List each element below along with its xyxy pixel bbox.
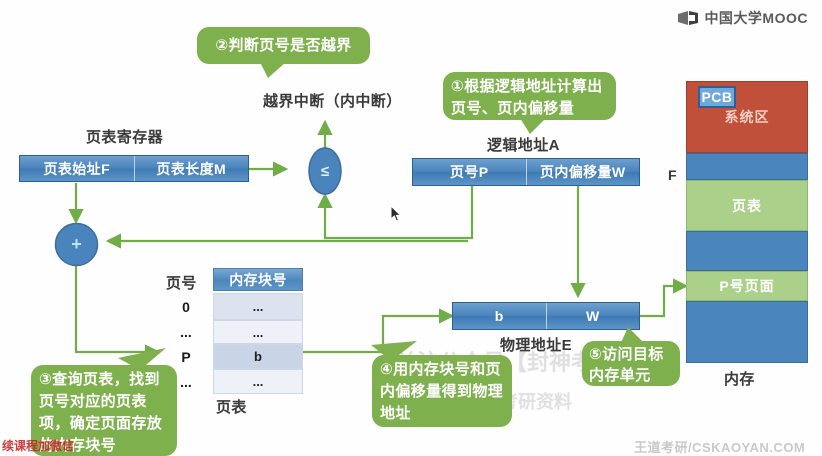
adder-node-symbol: + <box>54 222 99 267</box>
logo-text: 中国大学MOOC <box>704 8 808 28</box>
watermark-bottom-left: 续课程加微信 <box>2 437 74 454</box>
pcb-box: PCB <box>698 86 736 108</box>
memory-segment-page-table: 页表 <box>686 180 808 231</box>
page-table-row: ... <box>213 293 303 320</box>
memory-segment-blue-3 <box>686 301 808 363</box>
memory-segment-system-label: 系统区 <box>725 107 770 127</box>
f-marker-label: F <box>668 167 677 183</box>
interrupt-label: 越界中断（内中断） <box>263 90 402 111</box>
watermark-footer: 王道考研/CSKAOYAN.COM <box>634 437 805 456</box>
page-table-caption: 页表 <box>216 396 247 417</box>
compare-node: ≤ <box>308 147 342 195</box>
callout-step4: ④用内存块号和页内偏移量得到物理地址 <box>372 355 512 427</box>
slide-canvas: 中国大学MOOC ②判断页号是否越界 ①根据逻辑地址计算出页号、页内偏移量 越界… <box>0 0 822 456</box>
memory-segment-blue-1 <box>686 153 808 180</box>
page-table-row-label-0: 0 <box>166 293 206 320</box>
callout-step5: ⑤访问目标内存单元 <box>582 341 680 386</box>
page-table-row-label-2: P <box>166 344 206 369</box>
memory-segment-page-table-label: 页表 <box>732 196 762 216</box>
callout-step1-tail <box>520 118 546 134</box>
memory-segment-blue-2 <box>686 231 808 271</box>
page-table-length-cell: 页表长度M <box>134 156 249 181</box>
page-table-register-label: 页表寄存器 <box>86 126 163 147</box>
physical-address-block-cell: b <box>453 303 546 329</box>
memory-segment-p-page: P号页面 <box>686 271 808 301</box>
logical-address-label: 逻辑地址A <box>487 134 560 155</box>
page-table-row-label-1: ... <box>166 320 206 344</box>
mooc-logo: 中国大学MOOC <box>677 8 808 28</box>
page-table-row: ... <box>213 320 303 344</box>
physical-address-offset-cell: W <box>546 303 640 329</box>
mooc-logo-icon <box>677 10 699 26</box>
memory-segment-p-page-label: P号页面 <box>719 276 774 296</box>
compare-node-symbol: ≤ <box>308 147 342 195</box>
callout-step2-text: ②判断页号是否越界 <box>215 37 351 54</box>
callout-step5-text: ⑤访问目标内存单元 <box>589 346 664 384</box>
callout-step1: ①根据逻辑地址计算出页号、页内偏移量 <box>443 72 616 120</box>
page-table-row: b <box>213 344 303 369</box>
page-table-column-header: 内存块号 <box>213 268 303 291</box>
page-table-start-address-cell: 页表始址F <box>20 156 134 181</box>
logical-address-offset-cell: 页内偏移量W <box>526 159 640 185</box>
callout-step2-tail <box>260 62 286 78</box>
physical-address-bar: b W <box>452 302 640 330</box>
callout-step2: ②判断页号是否越界 <box>197 27 370 64</box>
physical-address-label: 物理地址E <box>500 334 572 355</box>
logical-address-bar: 页号P 页内偏移量W <box>412 158 640 186</box>
adder-node: + <box>54 222 99 267</box>
page-table-register-bar: 页表始址F 页表长度M <box>19 155 249 182</box>
page-table-row: ... <box>213 369 303 394</box>
logical-address-page-number-cell: 页号P <box>413 159 526 185</box>
page-number-column-label: 页号 <box>166 272 197 293</box>
mouse-cursor-icon <box>390 205 402 223</box>
callout-step1-text: ①根据逻辑地址计算出页号、页内偏移量 <box>451 78 603 117</box>
callout-step4-text: ④用内存块号和页内偏移量得到物理地址 <box>380 361 503 422</box>
memory-caption: 内存 <box>724 368 755 389</box>
